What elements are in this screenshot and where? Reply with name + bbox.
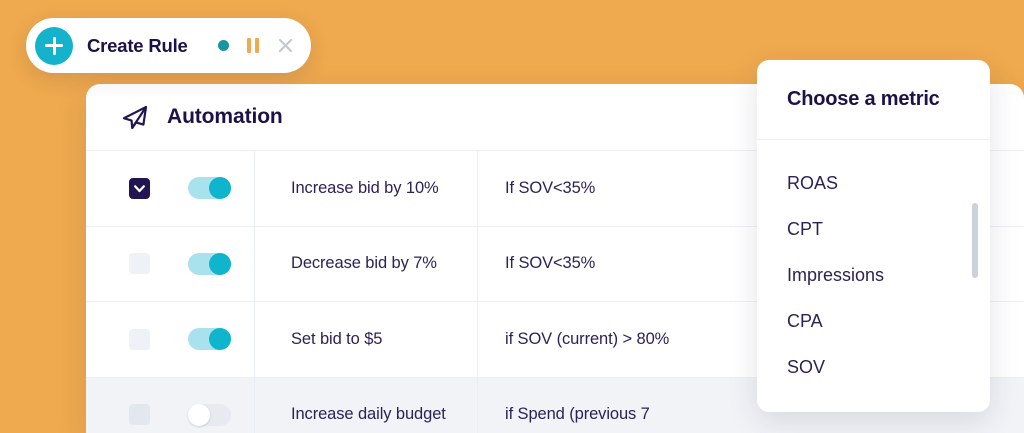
menu-item-roas[interactable]: ROAS	[757, 160, 990, 206]
row-action-label: Increase bid by 10%	[291, 179, 439, 198]
menu-item-cpt[interactable]: CPT	[757, 206, 990, 252]
row-action-cell[interactable]: Set bid to $5	[254, 302, 477, 377]
row-condition-label: If SOV<35%	[505, 254, 595, 273]
metric-dropdown-title: Choose a metric	[787, 88, 940, 111]
row-controls-cell	[86, 227, 254, 302]
toggle-knob	[209, 177, 231, 199]
create-rule-pill[interactable]: Create Rule	[26, 18, 311, 73]
row-controls-cell	[86, 151, 254, 226]
status-dot-icon	[218, 40, 229, 51]
metric-dropdown-header: Choose a metric	[757, 60, 990, 140]
menu-item-label: CPA	[787, 311, 823, 332]
row-toggle[interactable]	[188, 177, 231, 199]
send-icon	[120, 102, 150, 132]
metric-dropdown: Choose a metric ROAS CPT Impressions CPA…	[757, 60, 990, 412]
menu-item-label: ROAS	[787, 173, 838, 194]
row-action-label: Increase daily budget	[291, 405, 446, 424]
row-condition-label: if SOV (current) > 80%	[505, 330, 669, 349]
toggle-knob	[188, 404, 210, 426]
pause-icon[interactable]	[247, 38, 259, 53]
vertical-scrollbar[interactable]	[972, 203, 978, 278]
row-toggle[interactable]	[188, 253, 231, 275]
row-toggle[interactable]	[188, 328, 231, 350]
plus-icon[interactable]	[35, 27, 73, 65]
screenshot-root: Automation Increase bid by 10%	[0, 0, 1024, 433]
row-condition-label: if Spend (previous 7	[505, 405, 650, 424]
row-action-label: Set bid to $5	[291, 330, 382, 349]
menu-item-label: CPT	[787, 219, 823, 240]
row-checkbox[interactable]	[129, 253, 150, 274]
menu-item-impressions[interactable]: Impressions	[757, 252, 990, 298]
row-toggle[interactable]	[188, 404, 231, 426]
row-condition-label: If SOV<35%	[505, 179, 595, 198]
menu-item-label: SOV	[787, 357, 825, 378]
row-checkbox[interactable]	[129, 178, 150, 199]
create-rule-label: Create Rule	[87, 35, 188, 57]
row-checkbox[interactable]	[129, 329, 150, 350]
row-action-cell[interactable]: Decrease bid by 7%	[254, 227, 477, 302]
menu-item-cpa[interactable]: CPA	[757, 298, 990, 344]
row-action-cell[interactable]: Increase daily budget	[254, 378, 477, 433]
toggle-knob	[209, 328, 231, 350]
check-icon	[129, 178, 150, 199]
menu-item-label: Impressions	[787, 265, 884, 286]
row-controls-cell	[86, 302, 254, 377]
row-checkbox[interactable]	[129, 404, 150, 425]
row-controls-cell	[86, 378, 254, 433]
metric-dropdown-list: ROAS CPT Impressions CPA SOV	[757, 140, 990, 390]
row-action-cell[interactable]: Increase bid by 10%	[254, 151, 477, 226]
page-title: Automation	[167, 105, 283, 129]
close-icon[interactable]	[278, 38, 293, 53]
toggle-knob	[209, 253, 231, 275]
row-action-label: Decrease bid by 7%	[291, 254, 437, 273]
menu-item-sov[interactable]: SOV	[757, 344, 990, 390]
